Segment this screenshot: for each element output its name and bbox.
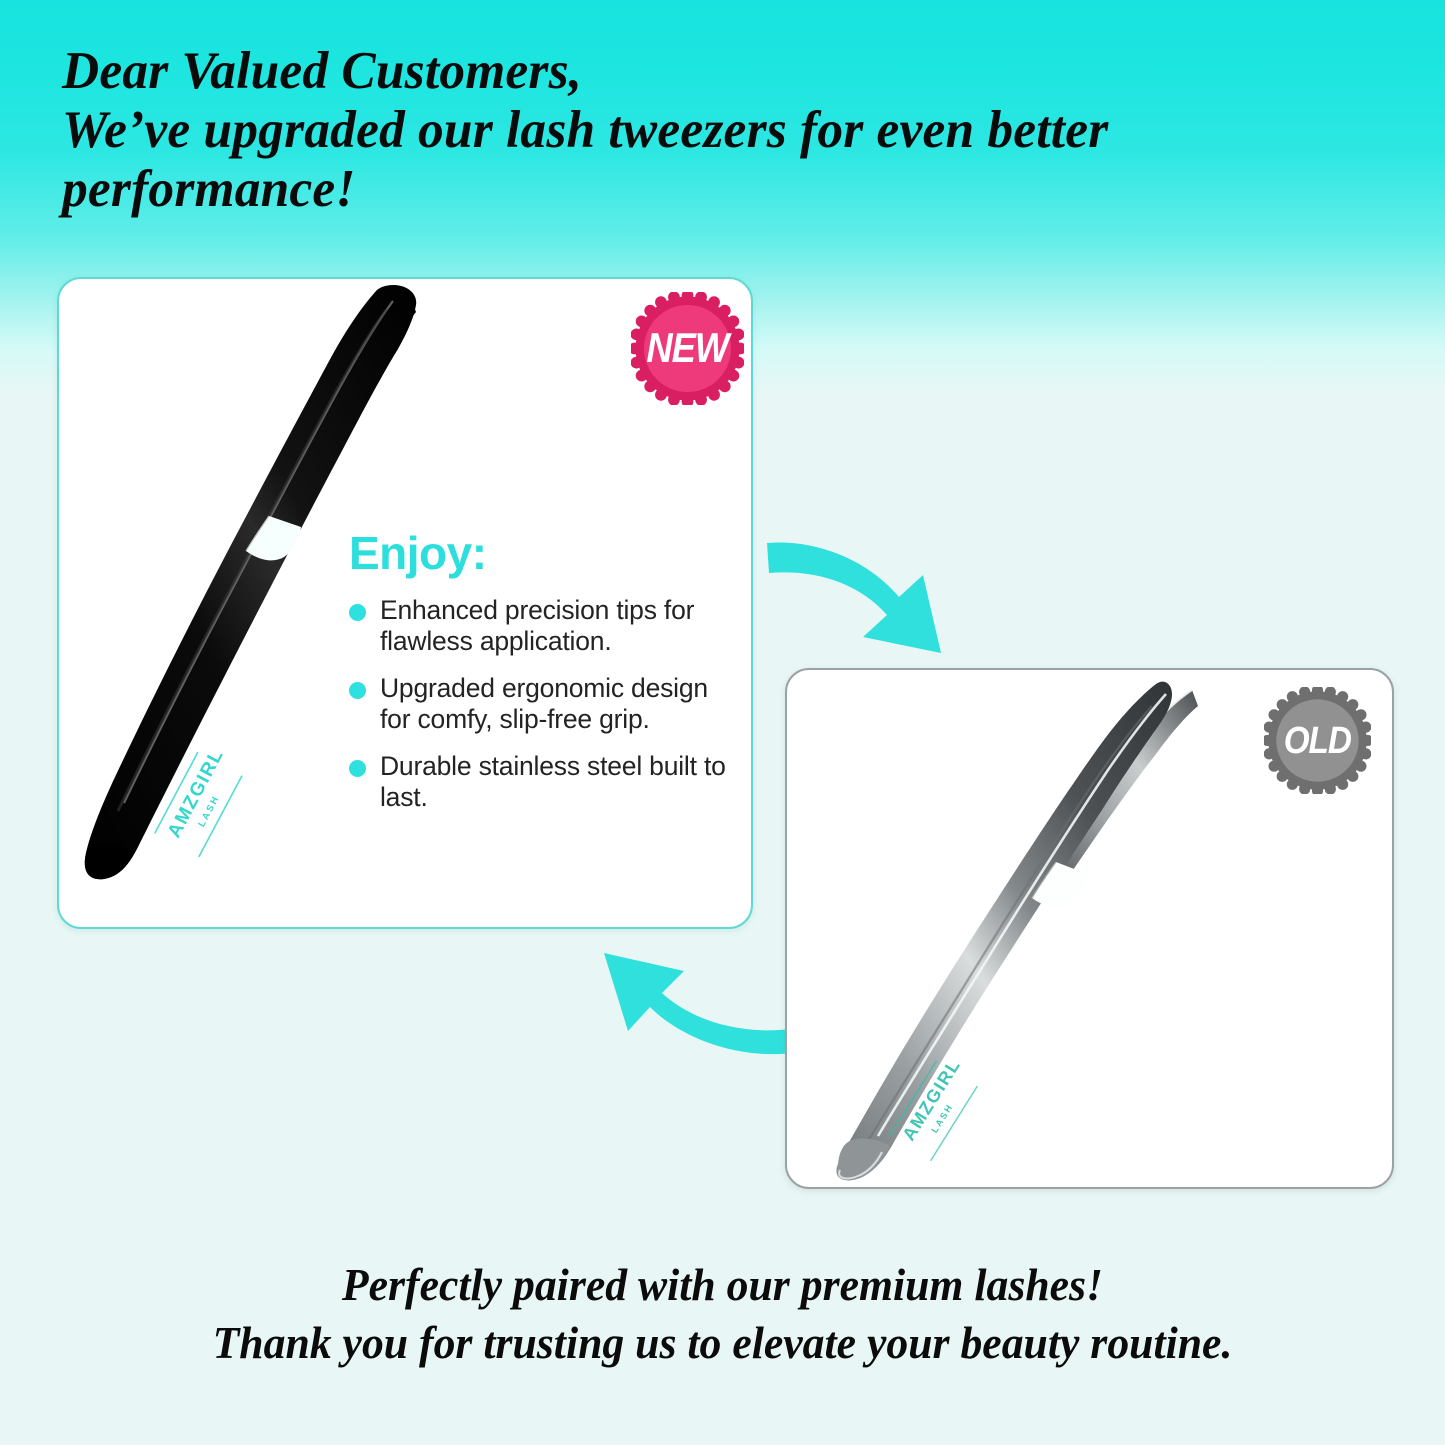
footer-line-1: Perfectly paired with our premium lashes… [36,1256,1409,1314]
old-badge-label: OLD [1284,719,1351,763]
feature-text: Enhanced precision tips for flawless app… [380,595,741,657]
page-headline: Dear Valued Customers, We’ve upgraded ou… [62,42,1352,219]
feature-text: Durable stainless steel built to last. [380,751,741,813]
list-item: Durable stainless steel built to last. [349,751,741,813]
bullet-dot-icon [349,760,366,777]
enjoy-feature-list: Enjoy: Enhanced precision tips for flawl… [349,527,741,829]
headline-line-1: Dear Valued Customers, [62,42,1352,101]
footer-message: Perfectly paired with our premium lashes… [36,1256,1409,1372]
list-item: Enhanced precision tips for flawless app… [349,595,741,657]
bullet-dot-icon [349,604,366,621]
new-badge: NEW [631,292,744,405]
bullet-dot-icon [349,682,366,699]
footer-line-2: Thank you for trusting us to elevate you… [36,1314,1409,1372]
old-badge: OLD [1264,687,1371,794]
new-badge-label: NEW [647,325,729,372]
list-item: Upgraded ergonomic design for comfy, sli… [349,673,741,735]
enjoy-heading: Enjoy: [349,527,741,579]
headline-line-2: We’ve upgraded our lash tweezers for eve… [62,101,1352,160]
feature-text: Upgraded ergonomic design for comfy, sli… [380,673,741,735]
headline-line-3: performance! [62,160,1352,219]
